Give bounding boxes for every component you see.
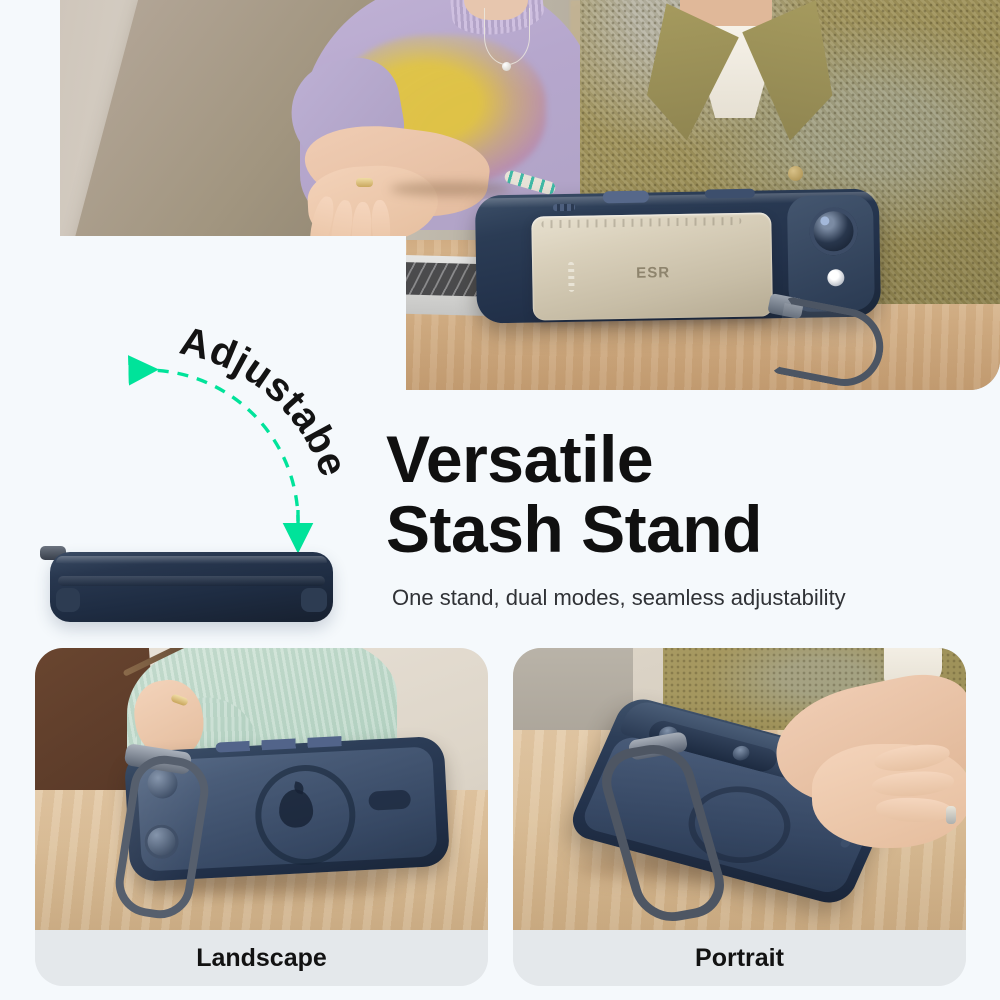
person-ring — [946, 806, 956, 824]
landscape-caption-bar: Landscape — [35, 930, 488, 986]
headline-subtitle: One stand, dual modes, seamless adjustab… — [392, 585, 992, 611]
headline-line-1: Versatile — [386, 424, 986, 494]
portrait-photo — [513, 648, 966, 930]
case-corner-right — [301, 588, 327, 612]
woman-necklace — [484, 8, 530, 65]
landscape-caption-label: Landscape — [196, 944, 327, 973]
case-lip — [58, 576, 325, 586]
portrait-caption-label: Portrait — [695, 944, 784, 973]
power-bank: ESR — [531, 212, 773, 320]
diagram-case-base — [50, 552, 333, 622]
case-corner-left — [56, 588, 80, 612]
woman-ring — [356, 178, 373, 187]
portrait-caption-bar: Portrait — [513, 930, 966, 986]
microphone-grill — [553, 204, 575, 211]
landscape-photo — [35, 648, 488, 930]
portrait-mode-card: Portrait — [513, 648, 966, 986]
case-pill-cutout — [368, 790, 411, 811]
case-button-top — [603, 190, 649, 203]
led-indicator — [568, 262, 575, 292]
woman-pendant — [502, 62, 511, 71]
landscape-mode-card: Landscape — [35, 648, 488, 986]
arc-label: Adjustabe — [176, 319, 356, 483]
case-button-secondary — [705, 189, 755, 199]
product-shadow — [390, 182, 510, 196]
headline-line-2: Stash Stand — [386, 494, 986, 564]
headline-block: Versatile Stash Stand — [386, 424, 986, 564]
brand-logo: ESR — [636, 264, 670, 282]
man-cardigan-button — [788, 166, 803, 181]
product-feature-page: ESR — [0, 0, 1000, 1000]
hero-product: ESR — [475, 188, 881, 330]
